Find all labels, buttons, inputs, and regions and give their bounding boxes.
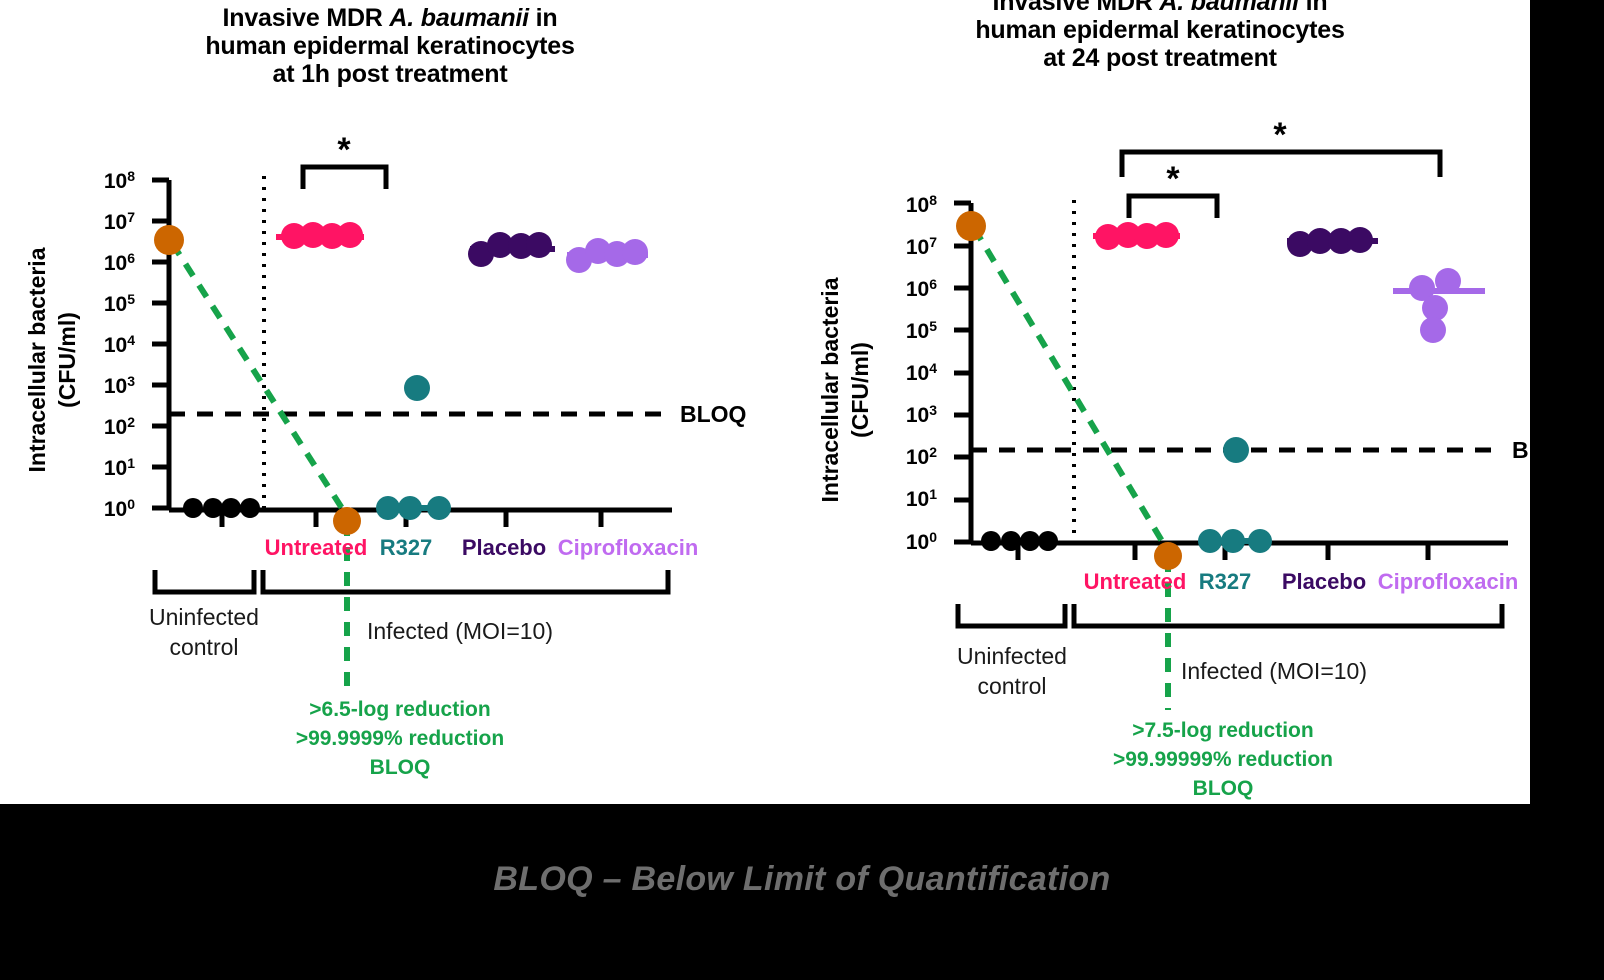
y-tick-0-24h: 100	[906, 529, 937, 554]
group-label-infected-24h: Infected (MOI=10)	[1181, 658, 1367, 684]
y-tick-4: 104	[104, 332, 135, 357]
reduction-annotation-line3-1h: BLOQ	[370, 756, 431, 779]
inoculum-point-24h	[956, 211, 986, 241]
x-label-ciprofloxacin-24h: Ciprofloxacin	[1378, 569, 1519, 594]
reduction-annotation-line2-24h: >99.99999% reduction	[1113, 748, 1333, 771]
x-label-placebo-1h: Placebo	[462, 535, 546, 560]
group-label-uninfected-line1-24h: Uninfected	[957, 643, 1067, 669]
y-tick-1: 101	[104, 455, 135, 480]
y-tick-0: 100	[104, 496, 135, 521]
x-label-untreated-24h: Untreated	[1084, 569, 1187, 594]
inoculum-marker-bottom-24h	[1154, 542, 1182, 570]
x-label-placebo-24h: Placebo	[1282, 569, 1366, 594]
significance-star-1h-1: *	[337, 131, 351, 169]
y-tick-6-24h: 106	[906, 276, 937, 301]
series-points-placebo-1h	[468, 232, 552, 267]
series-points-untreated-24h	[1095, 222, 1179, 250]
x-label-r327-24h: R327	[1199, 569, 1252, 594]
y-tick-labels-1h: 108 107 106 105 104 103 102 101 100	[104, 168, 135, 521]
bloq-label-24h: BLOQ	[1512, 437, 1530, 463]
series-points-placebo-24h	[1287, 227, 1373, 257]
y-axis-ticks-24h	[954, 203, 971, 542]
y-tick-4-24h: 104	[906, 360, 937, 385]
reduction-trend-line-1h	[172, 243, 347, 516]
series-points-ciprofloxacin-24h	[1409, 268, 1461, 343]
axis-lines-24h	[971, 203, 1508, 543]
x-label-untreated-1h: Untreated	[265, 535, 368, 560]
y-tick-8: 108	[104, 168, 135, 193]
significance-star-24h-outer: *	[1273, 116, 1287, 154]
significance-star-24h-inner: *	[1166, 160, 1180, 198]
group-bracket-uninfected-1h	[155, 570, 254, 592]
series-points-untreated-1h	[281, 222, 363, 249]
y-tick-5-24h: 105	[906, 318, 937, 343]
y-tick-7: 107	[104, 209, 135, 234]
y-tick-3-24h: 103	[906, 402, 937, 427]
y-tick-5: 105	[104, 291, 135, 316]
group-bracket-infected-1h	[263, 570, 668, 592]
y-tick-2-24h: 102	[906, 444, 937, 469]
significance-bracket-24h-inner	[1129, 196, 1217, 218]
group-label-uninfected-line1: Uninfected	[149, 604, 259, 630]
y-tick-7-24h: 107	[906, 234, 937, 259]
y-axis-title-line2: (CFU/ml)	[54, 312, 80, 408]
group-label-uninfected-line2-24h: control	[977, 673, 1046, 699]
bloq-label-1h: BLOQ	[680, 401, 746, 427]
group-bracket-infected-24h	[1074, 604, 1502, 626]
group-bracket-uninfected-24h	[958, 604, 1065, 626]
group-label-infected: Infected (MOI=10)	[367, 618, 553, 644]
chart-svg-24h: Intracellular bacteria (CFU/ml) 108 107 …	[790, 0, 1530, 804]
x-label-ciprofloxacin-1h: Ciprofloxacin	[558, 535, 699, 560]
series-points-r327-24h	[1198, 437, 1272, 553]
y-axis-title-24h: Intracellular bacteria (CFU/ml)	[817, 277, 873, 502]
y-tick-labels-24h: 108 107 106 105 104 103 102 101 100	[906, 192, 937, 554]
y-tick-8-24h: 108	[906, 192, 937, 217]
reduction-annotation-line1-1h: >6.5-log reduction	[309, 698, 490, 721]
y-tick-3: 103	[104, 373, 135, 398]
y-tick-1-24h: 101	[906, 486, 937, 511]
y-axis-title-1h: Intracellular bacteria (CFU/ml)	[24, 247, 80, 472]
figure-root: Invasive MDR A. baumanii in human epider…	[0, 0, 1604, 980]
chart-panel-1h: Invasive MDR A. baumanii in human epider…	[0, 0, 790, 804]
y-tick-6: 106	[104, 250, 135, 275]
group-label-uninfected-line2: control	[169, 634, 238, 660]
x-label-r327-1h: R327	[380, 535, 433, 560]
series-points-ciprofloxacin-1h	[566, 238, 648, 273]
significance-bracket-1h-1	[303, 167, 386, 189]
chart-panel-24h: Invasive MDR A. baumanii in human epider…	[790, 0, 1530, 804]
y-axis-title-line1: Intracellular bacteria	[24, 247, 50, 472]
reduction-annotation-line1-24h: >7.5-log reduction	[1132, 719, 1313, 742]
y-axis-title-line2-24h: (CFU/ml)	[847, 342, 873, 438]
axis-lines-1h	[169, 180, 672, 510]
inoculum-marker-bottom-1h	[333, 507, 361, 535]
series-points-r327-1h	[376, 375, 451, 520]
chart-svg-1h: Intracellular bacteria (CFU/ml) 108 107 …	[0, 0, 790, 804]
y-axis-title-line1-24h: Intracellular bacteria	[817, 277, 843, 502]
reduction-annotation-line2-1h: >99.9999% reduction	[296, 727, 504, 750]
y-tick-2: 102	[104, 414, 135, 439]
reduction-trend-line-24h	[974, 228, 1168, 551]
reduction-annotation-line3-24h: BLOQ	[1193, 777, 1254, 800]
inoculum-point-1h	[154, 225, 184, 255]
figure-caption: BLOQ – Below Limit of Quantification	[0, 860, 1604, 899]
